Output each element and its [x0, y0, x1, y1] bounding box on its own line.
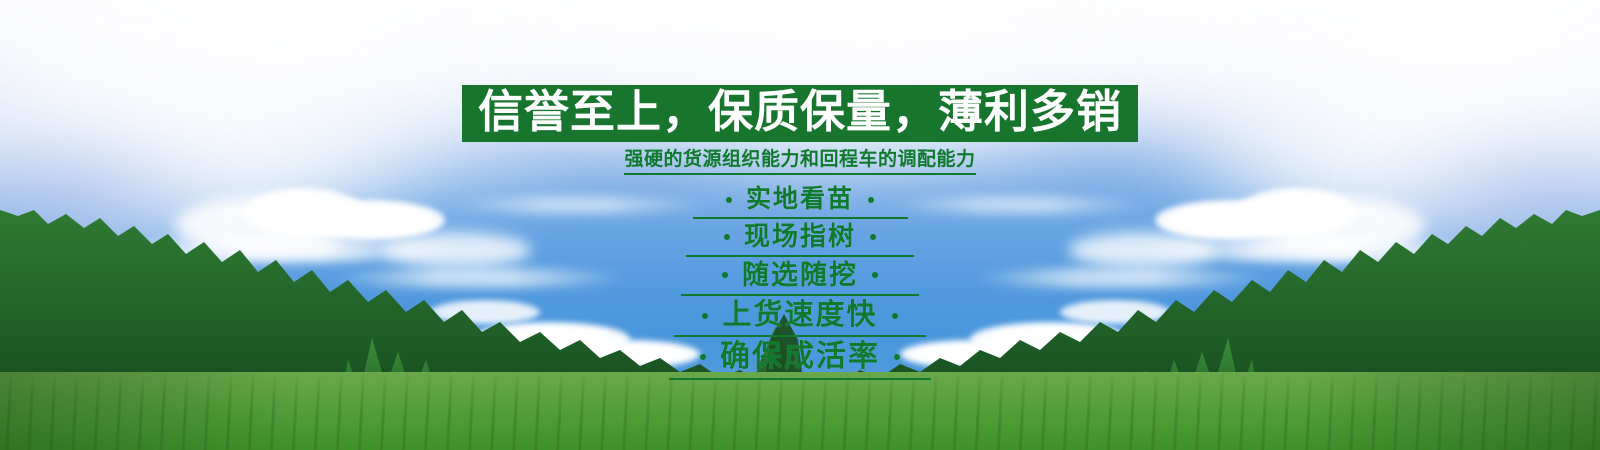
- promo-banner: 信誉至上，保质保量，薄利多销 强硬的货源组织能力和回程车的调配能力 实地看苗 现…: [0, 0, 1600, 450]
- feature-label: 上货速度快: [722, 299, 877, 332]
- bullet-dot-icon: [868, 197, 874, 203]
- bullet-dot-icon: [872, 272, 878, 278]
- feature-label: 现场指树: [744, 222, 856, 252]
- bullet-dot-icon: [892, 313, 898, 319]
- subtitle-text: 强硬的货源组织能力和回程车的调配能力: [624, 150, 975, 175]
- headline-text: 信誉至上，保质保量，薄利多销: [478, 88, 1122, 135]
- bullet-dot-icon: [722, 272, 728, 278]
- bullet-dot-icon: [724, 234, 730, 240]
- feature-list: 实地看苗 现场指树 随选随挖 上货速度快 确保成活率: [669, 184, 931, 382]
- field-furrows: [0, 372, 1600, 450]
- bullet-dot-icon: [870, 234, 876, 240]
- bullet-dot-icon: [894, 354, 900, 360]
- feature-list-item: 现场指树: [686, 221, 914, 257]
- headline-banner: 信誉至上，保质保量，薄利多销: [462, 85, 1138, 142]
- bullet-dot-icon: [726, 197, 732, 203]
- bullet-dot-icon: [702, 313, 708, 319]
- crop-field: [0, 372, 1600, 450]
- feature-label: 实地看苗: [746, 185, 854, 214]
- feature-label: 确保成活率: [720, 340, 880, 375]
- bullet-dot-icon: [700, 354, 706, 360]
- feature-list-item: 上货速度快: [674, 298, 926, 337]
- feature-list-item: 随选随挖: [681, 259, 919, 296]
- feature-list-item: 实地看苗: [693, 184, 908, 219]
- feature-list-item: 确保成活率: [669, 339, 931, 380]
- feature-label: 随选随挖: [742, 260, 858, 291]
